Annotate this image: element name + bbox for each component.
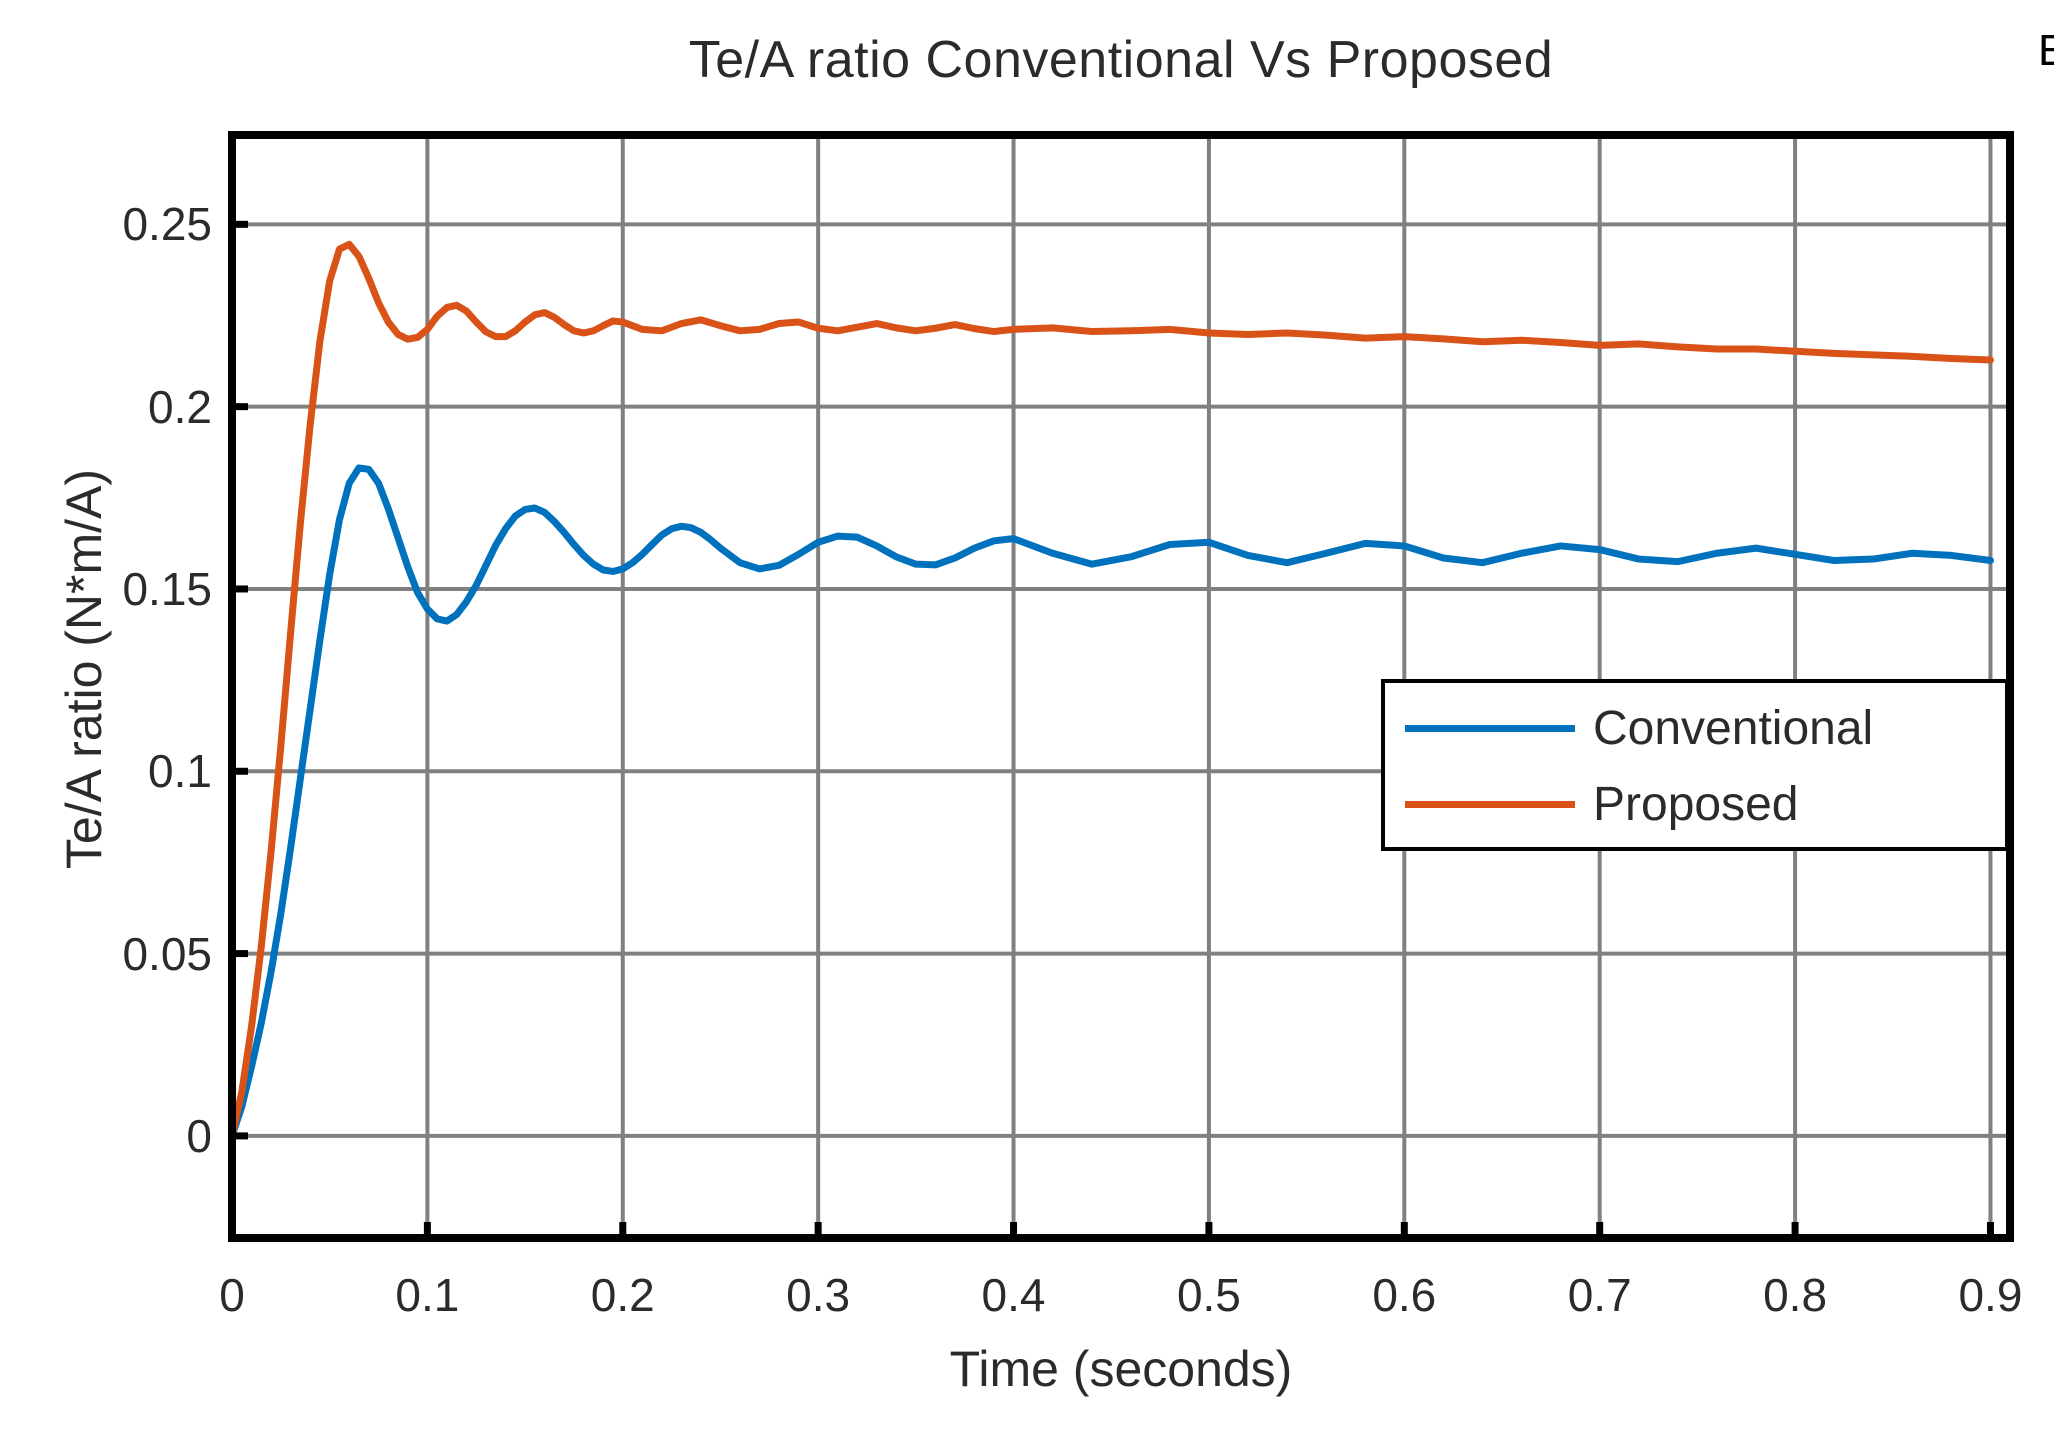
legend-swatch-conventional [1405, 725, 1575, 732]
figure-container: Te/A ratio Conventional Vs Proposed E 00… [0, 0, 2056, 1454]
x-tick-label: 0.1 [395, 1268, 459, 1322]
x-tick-label: 0.7 [1568, 1268, 1632, 1322]
x-tick-label: 0.4 [982, 1268, 1046, 1322]
y-axis-label: Te/A ratio (N*m/A) [55, 269, 113, 1069]
x-tick-label: 0.8 [1763, 1268, 1827, 1322]
x-tick-label: 0.3 [786, 1268, 850, 1322]
x-axis-label: Time (seconds) [232, 1340, 2010, 1398]
x-tick-label: 0.2 [591, 1268, 655, 1322]
legend-entry-proposed[interactable]: Proposed [1385, 767, 2005, 841]
legend-swatch-proposed [1405, 801, 1575, 808]
legend[interactable]: Conventional Proposed [1381, 679, 2009, 851]
y-tick-label: 0 [42, 1109, 212, 1163]
x-tick-label: 0.9 [1958, 1268, 2022, 1322]
legend-label-conventional: Conventional [1593, 701, 1873, 756]
y-tick-label: 0.25 [42, 197, 212, 251]
x-tick-label: 0 [219, 1268, 245, 1322]
x-tick-label: 0.6 [1372, 1268, 1436, 1322]
x-tick-label: 0.5 [1177, 1268, 1241, 1322]
legend-label-proposed: Proposed [1593, 777, 1798, 832]
legend-entry-conventional[interactable]: Conventional [1385, 691, 2005, 765]
chart-title: Te/A ratio Conventional Vs Proposed [232, 30, 2010, 90]
corner-mark-label: E [2038, 22, 2054, 82]
